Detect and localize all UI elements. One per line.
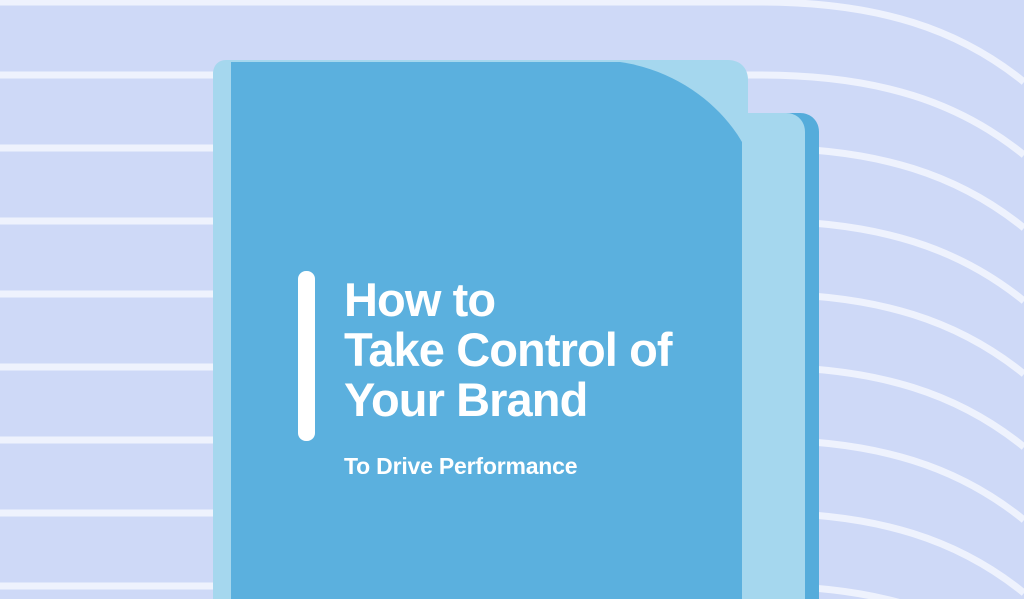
document-stack-illustration [0,0,1024,599]
poster-canvas: How to Take Control of Your Brand To Dri… [0,0,1024,599]
middle-page-highlight [742,113,793,599]
front-page-corner [231,62,245,76]
front-page-body [231,62,742,599]
